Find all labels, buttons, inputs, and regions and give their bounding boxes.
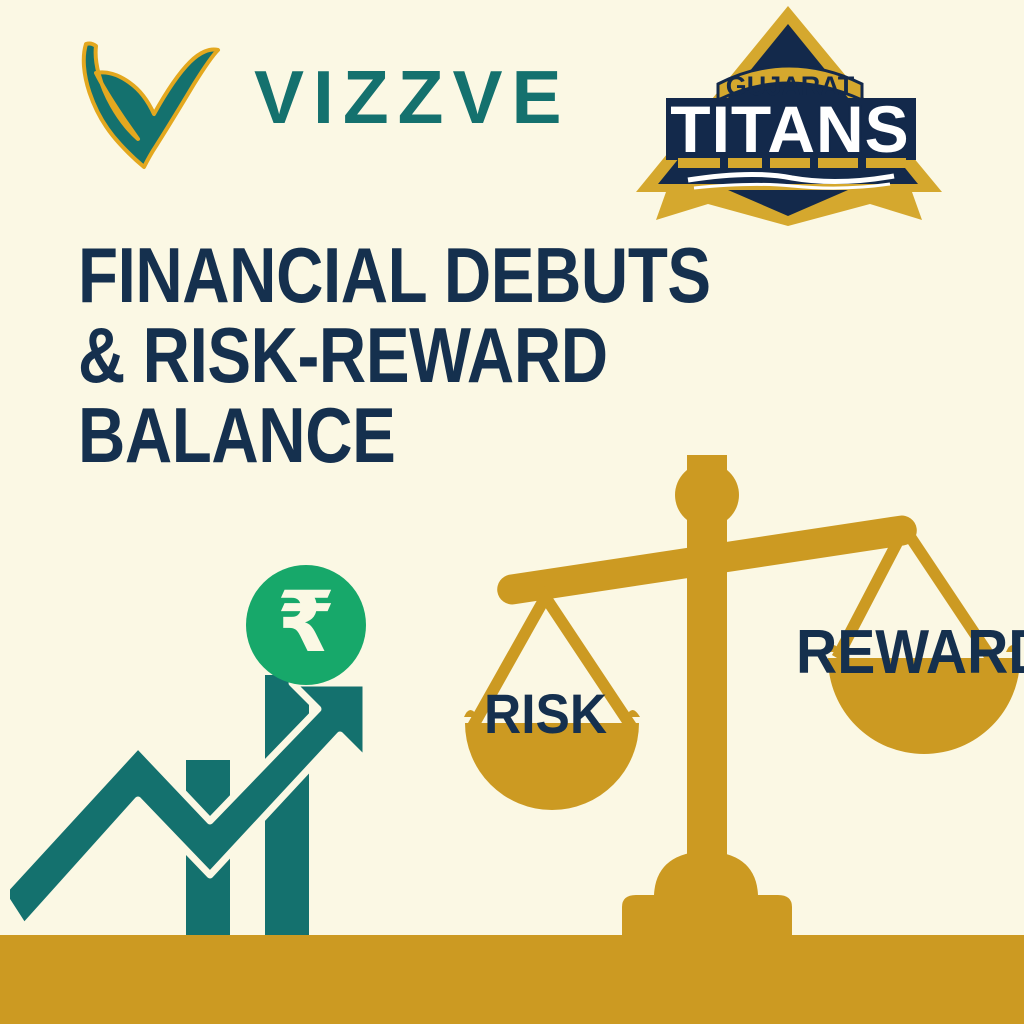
vizzve-wordmark: VIZZVE [254,60,571,135]
growth-chart-illustration: ₹ [10,555,440,950]
rupee-coin-icon: ₹ [246,565,366,685]
title-line-2: & RISK-REWARD [78,318,817,392]
ground-band [0,935,1024,1024]
poster-canvas: VIZZVE GUJARAT TITANS FINANCIAL DEBUTS & [0,0,1024,1024]
team-name-main: TITANS [670,92,909,166]
bars-and-arrow [10,555,440,950]
gujarat-titans-logo: GUJARAT TITANS [612,0,972,234]
vizzve-brand: VIZZVE [72,22,571,172]
title-line-1: FINANCIAL DEBUTS [78,238,817,312]
reward-label: REWARD [796,622,1024,684]
risk-label: RISK [484,686,607,742]
vizzve-logo-icon [72,22,232,172]
page-title: FINANCIAL DEBUTS & RISK-REWARD BALANCE [78,238,817,478]
rupee-symbol: ₹ [277,580,335,664]
